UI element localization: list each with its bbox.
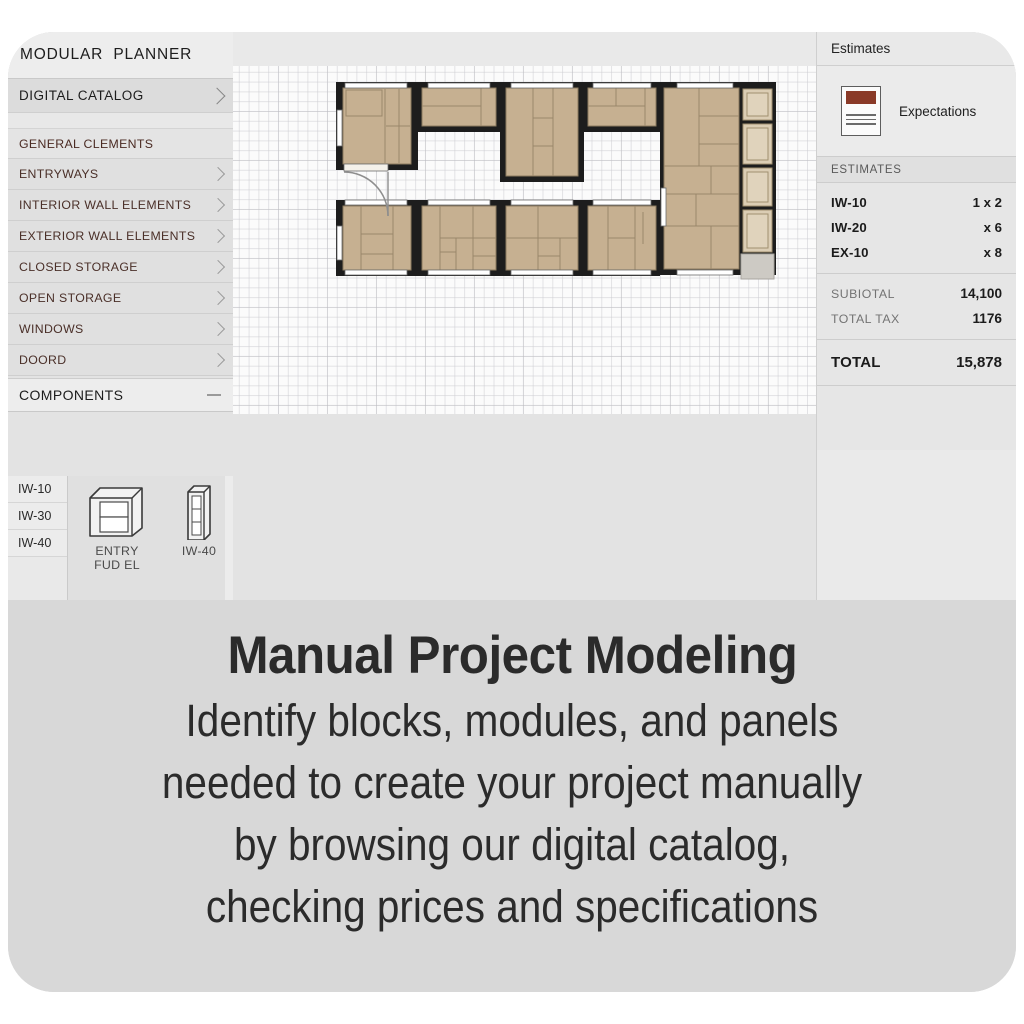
component-thumb-label: IW-40 bbox=[182, 544, 216, 558]
summary-label: SUBIOTAL bbox=[831, 287, 895, 301]
components-panel: IW-10 IW-30 IW-40 bbox=[8, 476, 233, 600]
sidebar-item-label: ENTRYWAYS bbox=[19, 167, 98, 181]
estimates-panel-header: Estimates bbox=[817, 32, 1016, 66]
list-item-empty bbox=[8, 557, 67, 600]
sidebar-section-label: GENERAL CLEMENTS bbox=[19, 137, 153, 151]
sidebar: MODULAR PLANNER DIGITAL CATALOG GENERAL … bbox=[8, 32, 233, 600]
sidebar-item-entryways[interactable]: ENTRYWAYS bbox=[8, 159, 233, 190]
row-label: EX-10 bbox=[831, 245, 869, 260]
estimates-section-header: ESTIMATES bbox=[817, 157, 1016, 183]
sidebar-spacer bbox=[8, 113, 233, 129]
components-thumbnails: ENTRY FUD EL bbox=[68, 476, 233, 600]
planner-window: MODULAR PLANNER DIGITAL CATALOG GENERAL … bbox=[8, 32, 1016, 600]
chevron-right-icon bbox=[211, 198, 225, 212]
summary-value: 14,100 bbox=[960, 286, 1002, 301]
summary-row: TOTAL TAX 1176 bbox=[831, 306, 1002, 331]
list-item[interactable]: IW-40 bbox=[8, 530, 67, 557]
app-brand-label: MODULAR PLANNER bbox=[20, 46, 192, 64]
total-row: TOTAL 15,878 bbox=[831, 350, 1002, 375]
total-label: TOTAL bbox=[831, 354, 881, 371]
component-thumb-entry-fud-el[interactable]: ENTRY FUD EL bbox=[84, 484, 150, 572]
app-brand: MODULAR PLANNER bbox=[8, 32, 233, 79]
row-value: x 8 bbox=[984, 245, 1002, 260]
list-item[interactable]: IW-30 bbox=[8, 503, 67, 530]
chevron-right-icon bbox=[211, 322, 225, 336]
document-icon bbox=[841, 86, 881, 136]
floorplan-lower-wing bbox=[336, 200, 660, 276]
summary-label: TOTAL TAX bbox=[831, 312, 900, 326]
module-box-icon bbox=[86, 484, 148, 540]
sidebar-item-digital-catalog[interactable]: DIGITAL CATALOG bbox=[8, 79, 233, 113]
sidebar-section-general-clements: GENERAL CLEMENTS bbox=[8, 129, 233, 159]
component-thumb-label: ENTRY FUD EL bbox=[94, 544, 140, 572]
expectations-label: Expectations bbox=[899, 104, 976, 119]
summary-row: SUBIOTAL 14,100 bbox=[831, 281, 1002, 306]
caption-body: Identify blocks, modules, and panels nee… bbox=[162, 690, 862, 938]
sidebar-item-label: OPEN STORAGE bbox=[19, 291, 121, 305]
estimates-panel: Estimates Expectations ESTIMATES bbox=[816, 32, 1016, 600]
chevron-right-icon bbox=[211, 229, 225, 243]
document-icon-accent bbox=[846, 91, 876, 104]
screenshot-root: MODULAR PLANNER DIGITAL CATALOG GENERAL … bbox=[0, 0, 1024, 1024]
module-empty bbox=[741, 254, 774, 279]
row-value: x 6 bbox=[984, 220, 1002, 235]
module bbox=[588, 88, 656, 126]
sidebar-item-label: EXTERIOR WALL ELEMENTS bbox=[19, 229, 195, 243]
sidebar-item-label: WINDOWS bbox=[19, 322, 84, 336]
canvas-lower-area bbox=[233, 414, 816, 600]
sidebar-item-label: DIGITAL CATALOG bbox=[19, 88, 144, 103]
sidebar-item-label: DOORD bbox=[19, 353, 67, 367]
floorplan-drawing[interactable] bbox=[233, 66, 816, 414]
panel-filler bbox=[817, 450, 1016, 600]
chevron-right-icon bbox=[211, 260, 225, 274]
components-scroll-rail[interactable] bbox=[225, 476, 233, 600]
framed-modules bbox=[741, 89, 774, 279]
estimates-rows: IW-10 1 x 2 IW-20 x 6 EX-10 x 8 bbox=[817, 183, 1016, 274]
module bbox=[506, 88, 578, 176]
sidebar-item-exterior-wall-elements[interactable]: EXTERIOR WALL ELEMENTS bbox=[8, 221, 233, 252]
sidebar-item-label: INTERIOR WALL ELEMENTS bbox=[19, 198, 191, 212]
sidebar-item-open-storage[interactable]: OPEN STORAGE bbox=[8, 283, 233, 314]
components-title: COMPONENTS bbox=[19, 387, 123, 403]
sidebar-item-label: CLOSED STORAGE bbox=[19, 260, 138, 274]
chevron-right-icon bbox=[211, 167, 225, 181]
minus-icon[interactable] bbox=[207, 394, 221, 396]
sidebar-item-doord[interactable]: DOORD bbox=[8, 345, 233, 376]
chevron-right-icon bbox=[211, 353, 225, 367]
sidebar-item-windows[interactable]: WINDOWS bbox=[8, 314, 233, 345]
chevron-right-icon bbox=[209, 87, 226, 104]
estimates-summary: SUBIOTAL 14,100 TOTAL TAX 1176 bbox=[817, 274, 1016, 340]
row-label: IW-10 bbox=[831, 195, 867, 210]
floorplan-right-wing bbox=[660, 82, 776, 279]
row-label: IW-20 bbox=[831, 220, 867, 235]
list-item[interactable]: IW-10 bbox=[8, 476, 67, 503]
module bbox=[343, 206, 411, 270]
table-row[interactable]: EX-10 x 8 bbox=[831, 240, 1002, 265]
estimates-total: TOTAL 15,878 bbox=[817, 340, 1016, 386]
total-value: 15,878 bbox=[956, 354, 1002, 371]
panel-title: Estimates bbox=[831, 41, 890, 56]
floorplan-canvas[interactable] bbox=[233, 66, 816, 414]
module bbox=[664, 88, 739, 269]
chevron-right-icon bbox=[211, 291, 225, 305]
component-thumb-iw-40[interactable]: IW-40 bbox=[166, 484, 232, 558]
wall-panel-icon bbox=[182, 484, 216, 540]
table-row[interactable]: IW-20 x 6 bbox=[831, 215, 1002, 240]
components-list: IW-10 IW-30 IW-40 bbox=[8, 476, 68, 600]
app-card: MODULAR PLANNER DIGITAL CATALOG GENERAL … bbox=[8, 32, 1016, 992]
sidebar-item-interior-wall-elements[interactable]: INTERIOR WALL ELEMENTS bbox=[8, 190, 233, 221]
expectations-card[interactable]: Expectations bbox=[817, 66, 1016, 157]
canvas-toolbar-area bbox=[233, 32, 816, 66]
row-value: 1 x 2 bbox=[973, 195, 1002, 210]
components-header[interactable]: COMPONENTS bbox=[8, 378, 233, 412]
table-row[interactable]: IW-10 1 x 2 bbox=[831, 190, 1002, 215]
module bbox=[422, 88, 496, 126]
estimates-section-label: ESTIMATES bbox=[831, 164, 902, 176]
caption-title: Manual Project Modeling bbox=[227, 626, 797, 686]
caption-block: Manual Project Modeling Identify blocks,… bbox=[8, 600, 1016, 992]
summary-value: 1176 bbox=[973, 311, 1003, 326]
sidebar-item-closed-storage[interactable]: CLOSED STORAGE bbox=[8, 252, 233, 283]
